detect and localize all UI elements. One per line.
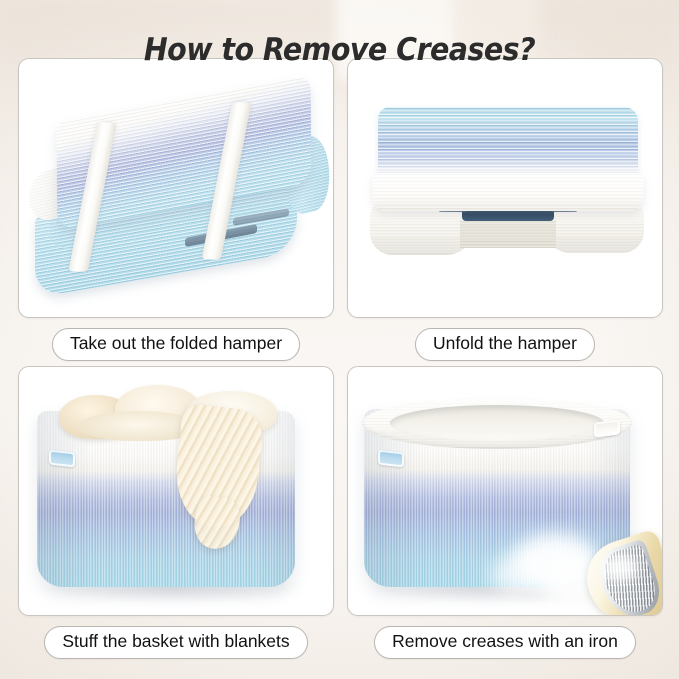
basket-handle-cutout-4 — [378, 450, 404, 468]
step-card-3: Stuff the basket with blankets — [18, 366, 334, 659]
step-photo-3 — [18, 366, 334, 616]
step-photo-1 — [18, 58, 334, 318]
basket-handle-cutout-3 — [49, 450, 75, 468]
step-caption-4: Remove creases with an iron — [374, 626, 636, 659]
unfolded-hamper-inner-floor — [460, 220, 556, 248]
step-caption-2: Unfold the hamper — [415, 328, 595, 361]
step-photo-2 — [347, 58, 663, 318]
step-card-1: Take out the folded hamper — [18, 58, 334, 361]
folded-hamper-illustration — [27, 93, 325, 289]
steam-cloud-3 — [490, 555, 548, 595]
basket-handle-cutout-right — [594, 419, 620, 437]
unfolded-hamper-white-band — [372, 173, 644, 211]
step-caption-3: Stuff the basket with blankets — [44, 626, 307, 659]
step-card-4: Remove creases with an iron — [347, 366, 663, 659]
unfolded-hamper-illustration — [368, 107, 644, 257]
page-title: How to Remove Creases? — [27, 32, 652, 68]
steps-grid: Take out the folded hamper Unfold the ha… — [0, 0, 679, 679]
unfolded-hamper-top-panel — [378, 107, 638, 179]
step-photo-4 — [347, 366, 663, 616]
step-card-2: Unfold the hamper — [347, 58, 663, 361]
steam-iron — [560, 515, 663, 616]
basket-inner-mouth — [390, 405, 604, 441]
iron-highlight — [602, 555, 638, 581]
step-caption-1: Take out the folded hamper — [52, 328, 300, 361]
